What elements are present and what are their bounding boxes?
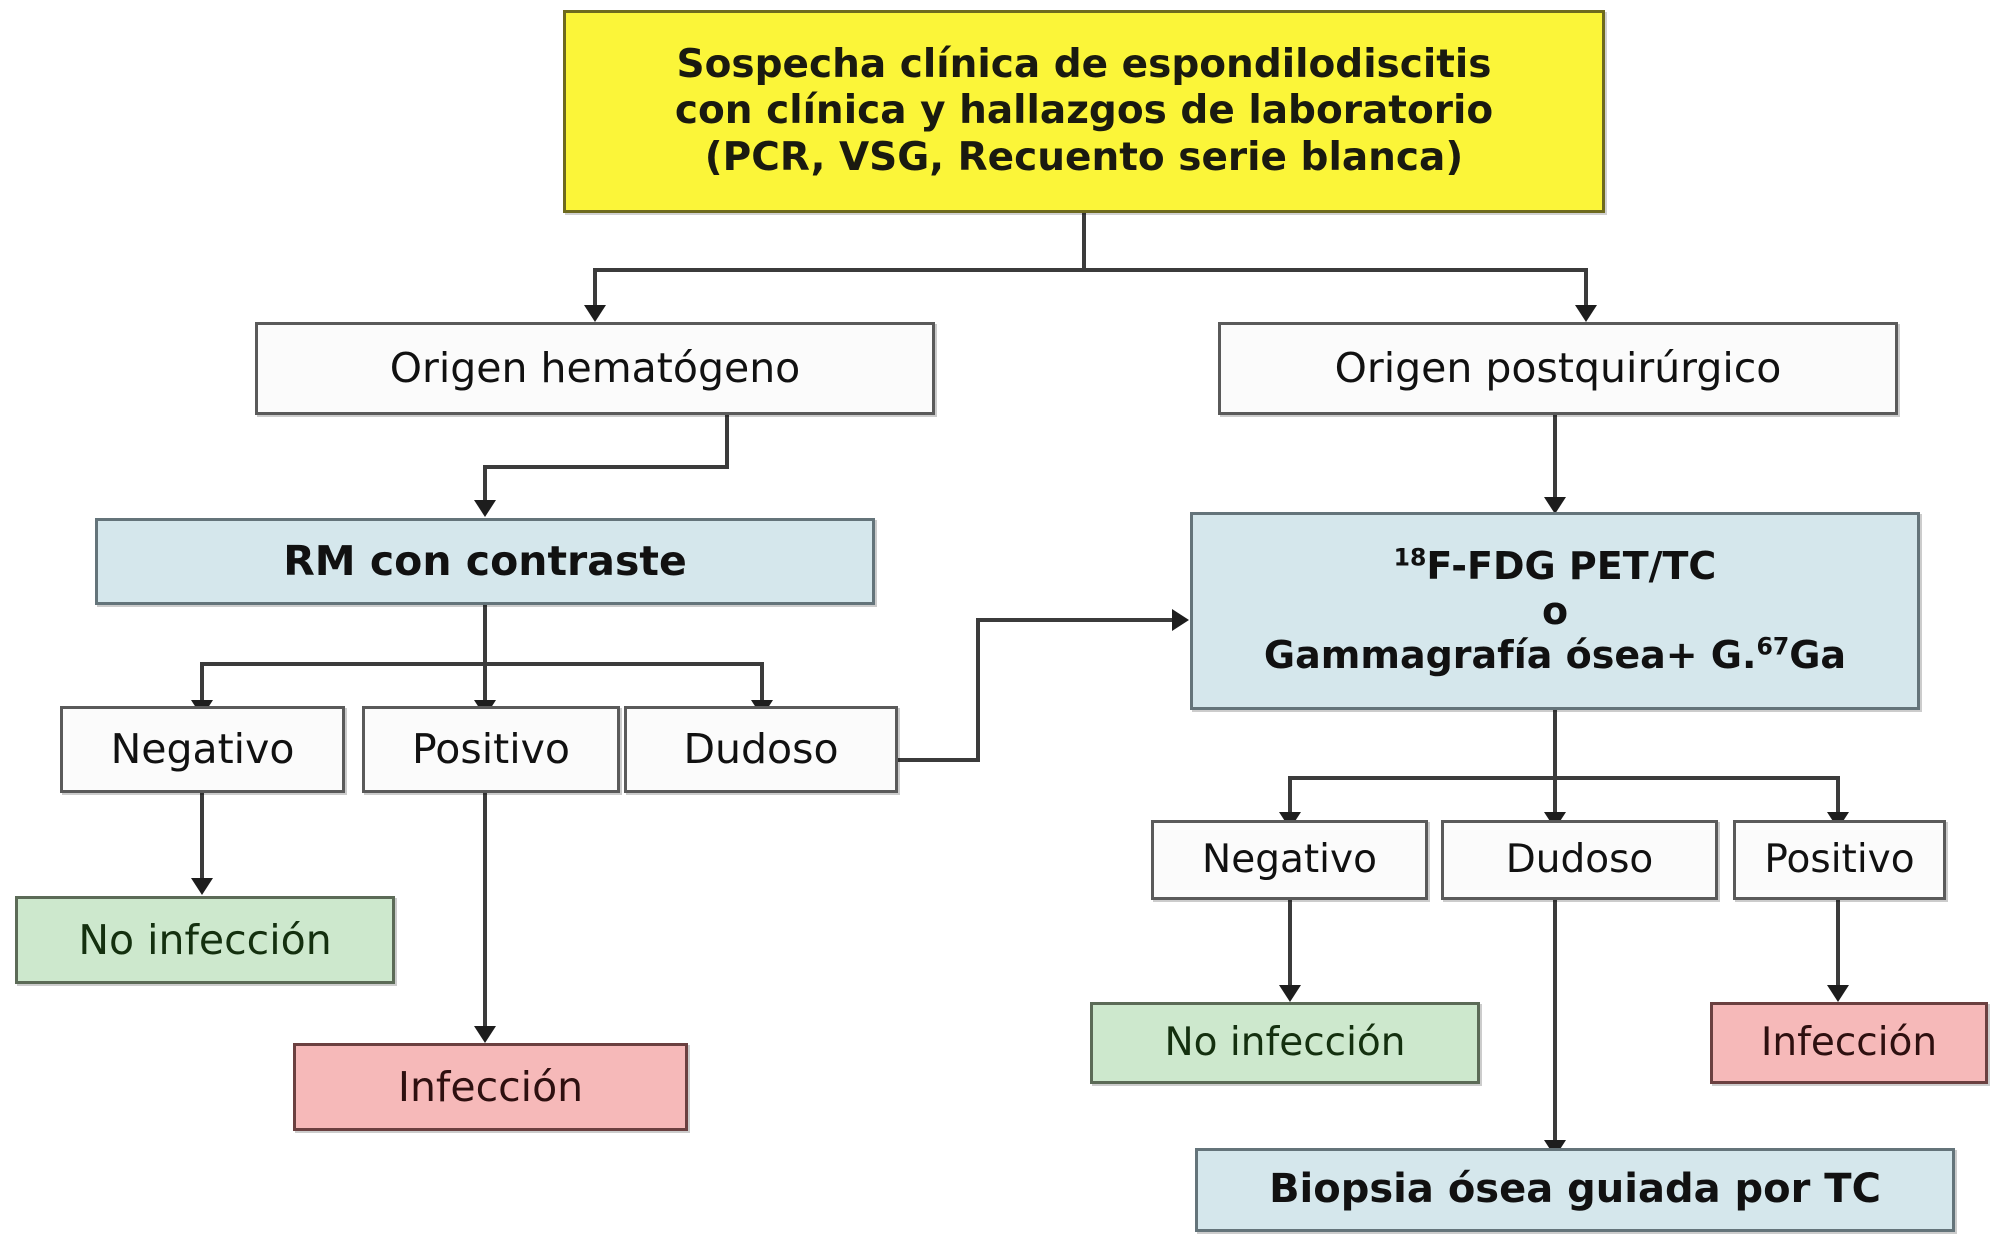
suspicion-line-1: Sospecha clínica de espondilodiscitis (675, 42, 1493, 88)
node-left-negative[interactable]: Negativo (60, 706, 345, 793)
left-no-infection-label: No infección (18, 916, 392, 964)
pet-line-3: Gammagrafía ósea+ G.67Ga (1264, 633, 1846, 678)
edge-right-positive-to-infection (1836, 900, 1840, 992)
pet-line-2: o (1264, 589, 1846, 634)
left-negative-label: Negativo (63, 725, 342, 773)
edge-hematogenous-stem (725, 415, 729, 468)
edge-pet-stem (1553, 710, 1557, 780)
edge-doubtful-riser (976, 618, 980, 762)
edge-doubtful-to-pet (976, 618, 1181, 622)
node-left-no-infection[interactable]: No infección (15, 896, 395, 984)
arrow-right-no-infection (1279, 985, 1301, 1002)
node-right-positive[interactable]: Positivo (1733, 820, 1946, 900)
arrow-to-hematogenous (584, 305, 606, 322)
right-positive-label: Positivo (1736, 837, 1943, 883)
arrow-doubtful-to-pet (1172, 609, 1189, 631)
origin-postsurgical-label: Origen postquirúrgico (1221, 344, 1895, 392)
suspicion-line-2: con clínica y hallazgos de laboratorio (675, 88, 1493, 134)
origin-hematogenous-label: Origen hematógeno (258, 344, 932, 392)
right-infection-label: Infección (1713, 1020, 1985, 1066)
node-left-doubtful[interactable]: Dudoso (624, 706, 898, 793)
right-doubtful-label: Dudoso (1444, 837, 1715, 883)
biopsy-label: Biopsia ósea guiada por TC (1198, 1166, 1952, 1213)
edge-mri-stem (483, 605, 487, 665)
pet-line-1: 18F-FDG PET/TC (1264, 544, 1846, 589)
arrow-left-no-infection (191, 878, 213, 895)
flowchart-canvas: Sospecha clínica de espondilodiscitis co… (0, 0, 2000, 1243)
edge-mri-bus (200, 662, 764, 666)
right-no-infection-label: No infección (1093, 1020, 1477, 1066)
node-right-infection[interactable]: Infección (1710, 1002, 1988, 1084)
edge-suspicion-bus (593, 268, 1588, 272)
arrow-right-infection (1827, 985, 1849, 1002)
node-origin-postsurgical[interactable]: Origen postquirúrgico (1218, 322, 1898, 415)
arrow-to-mri (474, 500, 496, 517)
edge-pet-bus (1288, 776, 1840, 780)
edge-right-negative-to-no-infection (1288, 900, 1292, 992)
mri-label: RM con contraste (98, 537, 872, 585)
pet-line-3-pre: Gammagrafía ósea+ G. (1264, 633, 1757, 677)
arrow-to-postsurgical (1575, 305, 1597, 322)
pet-isotope-67: 67 (1756, 633, 1789, 661)
node-left-infection[interactable]: Infección (293, 1043, 688, 1131)
node-left-positive[interactable]: Positivo (362, 706, 620, 793)
node-clinical-suspicion[interactable]: Sospecha clínica de espondilodiscitis co… (563, 10, 1605, 213)
node-pet-or-scintigraphy[interactable]: 18F-FDG PET/TC o Gammagrafía ósea+ G.67G… (1190, 512, 1920, 710)
arrow-left-infection (474, 1026, 496, 1043)
node-right-doubtful[interactable]: Dudoso (1441, 820, 1718, 900)
node-mri-contrast[interactable]: RM con contraste (95, 518, 875, 605)
edge-hematogenous-jog (483, 465, 729, 469)
pet-line-3-post: Ga (1789, 633, 1846, 677)
edge-right-doubtful-to-biopsy (1553, 900, 1557, 1148)
node-right-negative[interactable]: Negativo (1151, 820, 1428, 900)
edge-doubtful-out (898, 758, 980, 762)
node-origin-hematogenous[interactable]: Origen hematógeno (255, 322, 935, 415)
edge-to-pet (1553, 415, 1557, 505)
right-negative-label: Negativo (1154, 837, 1425, 883)
edge-to-hematogenous (593, 268, 597, 310)
left-positive-label: Positivo (365, 725, 617, 773)
edge-left-positive-to-infection (483, 793, 487, 1033)
edge-left-negative-to-no-infection (200, 793, 204, 883)
pet-line-1-rest: F-FDG PET/TC (1426, 544, 1716, 588)
edge-suspicion-stem (1082, 213, 1086, 271)
pet-isotope-18: 18 (1394, 543, 1427, 571)
node-right-no-infection[interactable]: No infección (1090, 1002, 1480, 1084)
node-ct-guided-biopsy[interactable]: Biopsia ósea guiada por TC (1195, 1148, 1955, 1232)
left-infection-label: Infección (296, 1063, 685, 1111)
suspicion-line-3: (PCR, VSG, Recuento serie blanca) (675, 135, 1493, 181)
edge-to-postsurgical (1584, 268, 1588, 310)
left-doubtful-label: Dudoso (627, 725, 895, 773)
